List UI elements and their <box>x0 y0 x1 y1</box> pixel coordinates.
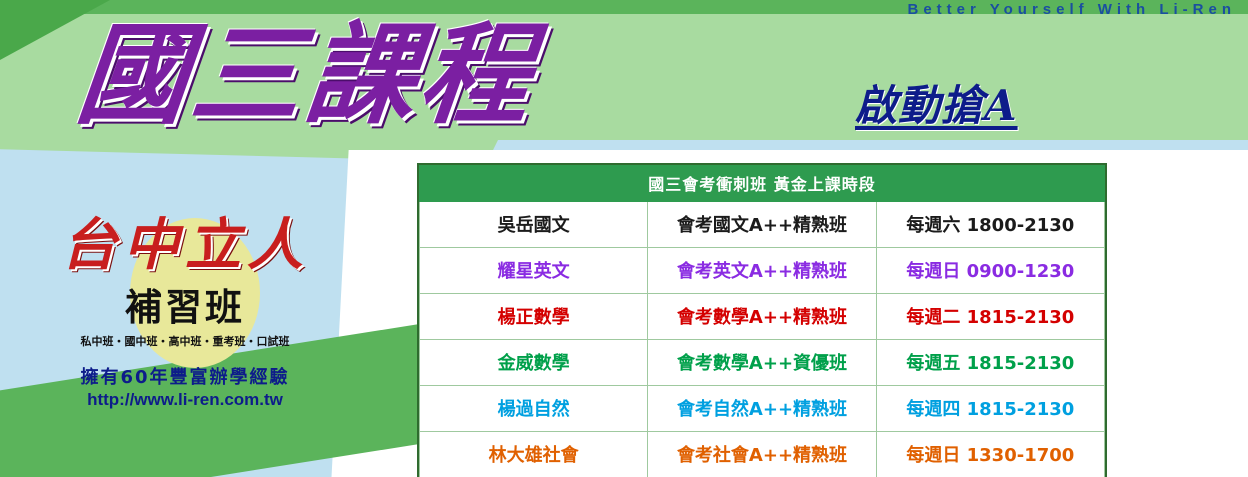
cell-course: 會考國文A++精熟班 <box>648 202 876 248</box>
cell-teacher: 楊過自然 <box>420 386 648 432</box>
logo-name: 台中立人 <box>20 200 350 281</box>
logo-website: http://www.li-ren.com.tw <box>20 390 350 410</box>
cell-teacher: 吳岳國文 <box>420 202 648 248</box>
table-header-title: 國三會考衝刺班 黃金上課時段 <box>420 166 1105 202</box>
cell-teacher: 金威數學 <box>420 340 648 386</box>
table-row: 耀星英文會考英文A++精熟班每週日 0900-1230 <box>420 248 1105 294</box>
page-title: 國三課程 <box>71 12 540 139</box>
cell-teacher: 林大雄社會 <box>420 432 648 477</box>
poster-root: Better Yourself With Li-Ren 國三課程 啟動搶A 台中… <box>0 0 1248 477</box>
logo-experience: 擁有60年豐富辦學經驗 <box>20 363 350 389</box>
cell-course: 會考社會A++精熟班 <box>648 432 876 477</box>
tagline: Better Yourself With Li-Ren <box>908 1 1237 18</box>
table-row: 楊正數學會考數學A++精熟班每週二 1815-2130 <box>420 294 1105 340</box>
cell-time: 每週六 1800-2130 <box>876 202 1104 248</box>
table-row: 金威數學會考數學A++資優班每週五 1815-2130 <box>420 340 1105 386</box>
cell-teacher: 耀星英文 <box>420 248 648 294</box>
cell-time: 每週日 0900-1230 <box>876 248 1104 294</box>
cell-course: 會考自然A++精熟班 <box>648 386 876 432</box>
schedule-table-container: 國三會考衝刺班 黃金上課時段 吳岳國文會考國文A++精熟班每週六 1800-21… <box>417 163 1107 477</box>
brand-logo: 台中立人 補習班 私中班・國中班・高中班・重考班・口試班 擁有60年豐富辦學經驗… <box>20 200 350 410</box>
cell-teacher: 楊正數學 <box>420 294 648 340</box>
table-row: 楊過自然會考自然A++精熟班每週四 1815-2130 <box>420 386 1105 432</box>
page-subtitle: 啟動搶A <box>855 72 1018 133</box>
table-body: 吳岳國文會考國文A++精熟班每週六 1800-2130耀星英文會考英文A++精熟… <box>420 202 1105 477</box>
table-row: 林大雄社會會考社會A++精熟班每週日 1330-1700 <box>420 432 1105 477</box>
cell-time: 每週日 1330-1700 <box>876 432 1104 477</box>
cell-course: 會考數學A++精熟班 <box>648 294 876 340</box>
cell-time: 每週四 1815-2130 <box>876 386 1104 432</box>
cell-time: 每週二 1815-2130 <box>876 294 1104 340</box>
cell-course: 會考英文A++精熟班 <box>648 248 876 294</box>
schedule-table: 國三會考衝刺班 黃金上課時段 吳岳國文會考國文A++精熟班每週六 1800-21… <box>419 165 1105 477</box>
cell-course: 會考數學A++資優班 <box>648 340 876 386</box>
cell-time: 每週五 1815-2130 <box>876 340 1104 386</box>
table-header-row: 國三會考衝刺班 黃金上課時段 <box>420 166 1105 202</box>
table-row: 吳岳國文會考國文A++精熟班每週六 1800-2130 <box>420 202 1105 248</box>
logo-subname: 補習班 <box>20 277 350 331</box>
logo-class-list: 私中班・國中班・高中班・重考班・口試班 <box>20 333 350 349</box>
